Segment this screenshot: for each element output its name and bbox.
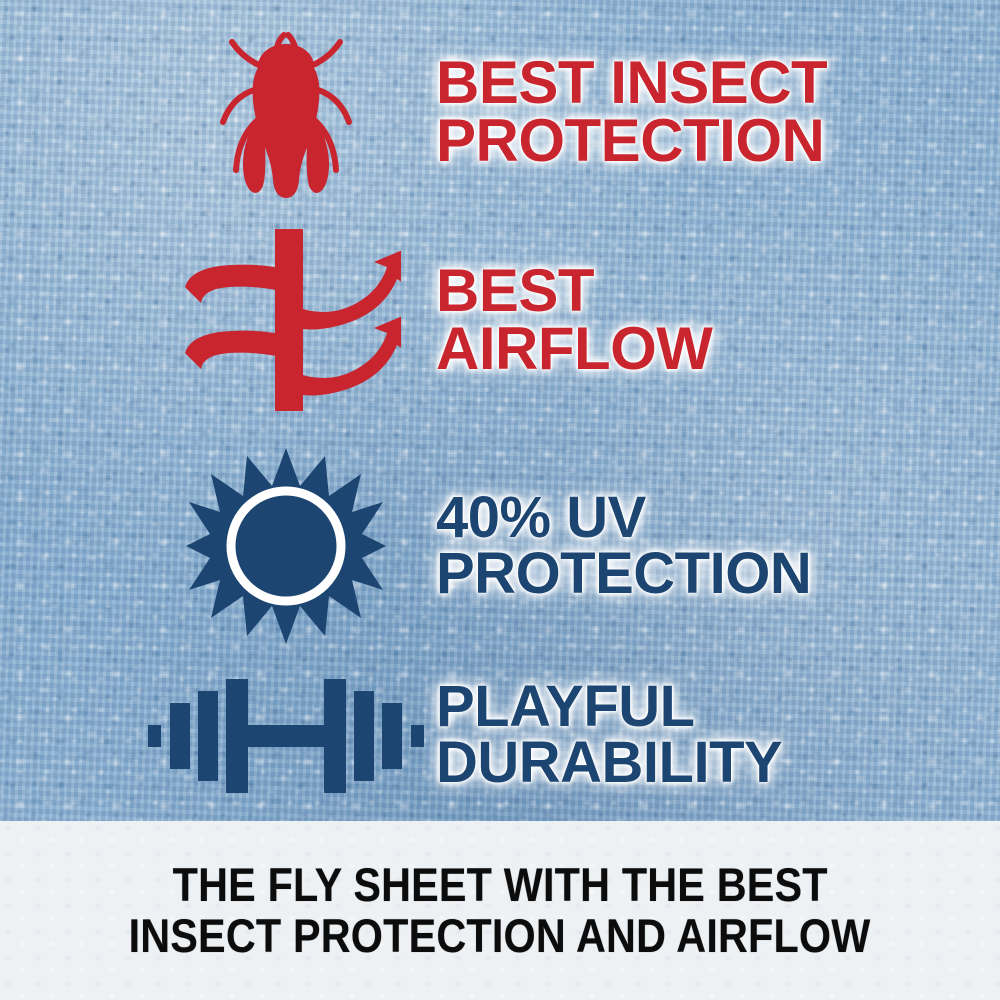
caption-line-1: THE FLY SHEET WITH THE BEST [172,860,827,910]
infographic-poster: BEST INSECT PROTECTION BEST AIRFLOW [0,0,1000,1000]
airflow-arrows-icon [171,225,401,415]
dumbbell-icon [146,665,426,805]
dumbbell-icon-cell [136,655,436,815]
sun-uv-icon [186,446,386,646]
airflow-icon-cell [136,225,436,415]
caption-bar: THE FLY SHEET WITH THE BEST INSECT PROTE… [0,821,1000,1000]
feature-label-durability: PLAYFUL DURABILITY [436,679,782,790]
caption-line-2: INSECT PROTECTION AND AIRFLOW [129,911,871,961]
feature-row-uv-protection: 40% UV PROTECTION [136,436,996,656]
sun-icon-cell [136,441,436,651]
feature-label-airflow: BEST AIRFLOW [436,262,712,377]
feature-row-insect-protection: BEST INSECT PROTECTION [136,14,996,210]
feature-row-airflow: BEST AIRFLOW [136,222,996,418]
feature-row-durability: PLAYFUL DURABILITY [136,652,996,818]
feature-label-uv-protection: 40% UV PROTECTION [436,490,811,601]
feature-label-insect-protection: BEST INSECT PROTECTION [436,54,827,169]
fly-icon-cell [136,17,436,207]
fly-icon [206,22,366,202]
